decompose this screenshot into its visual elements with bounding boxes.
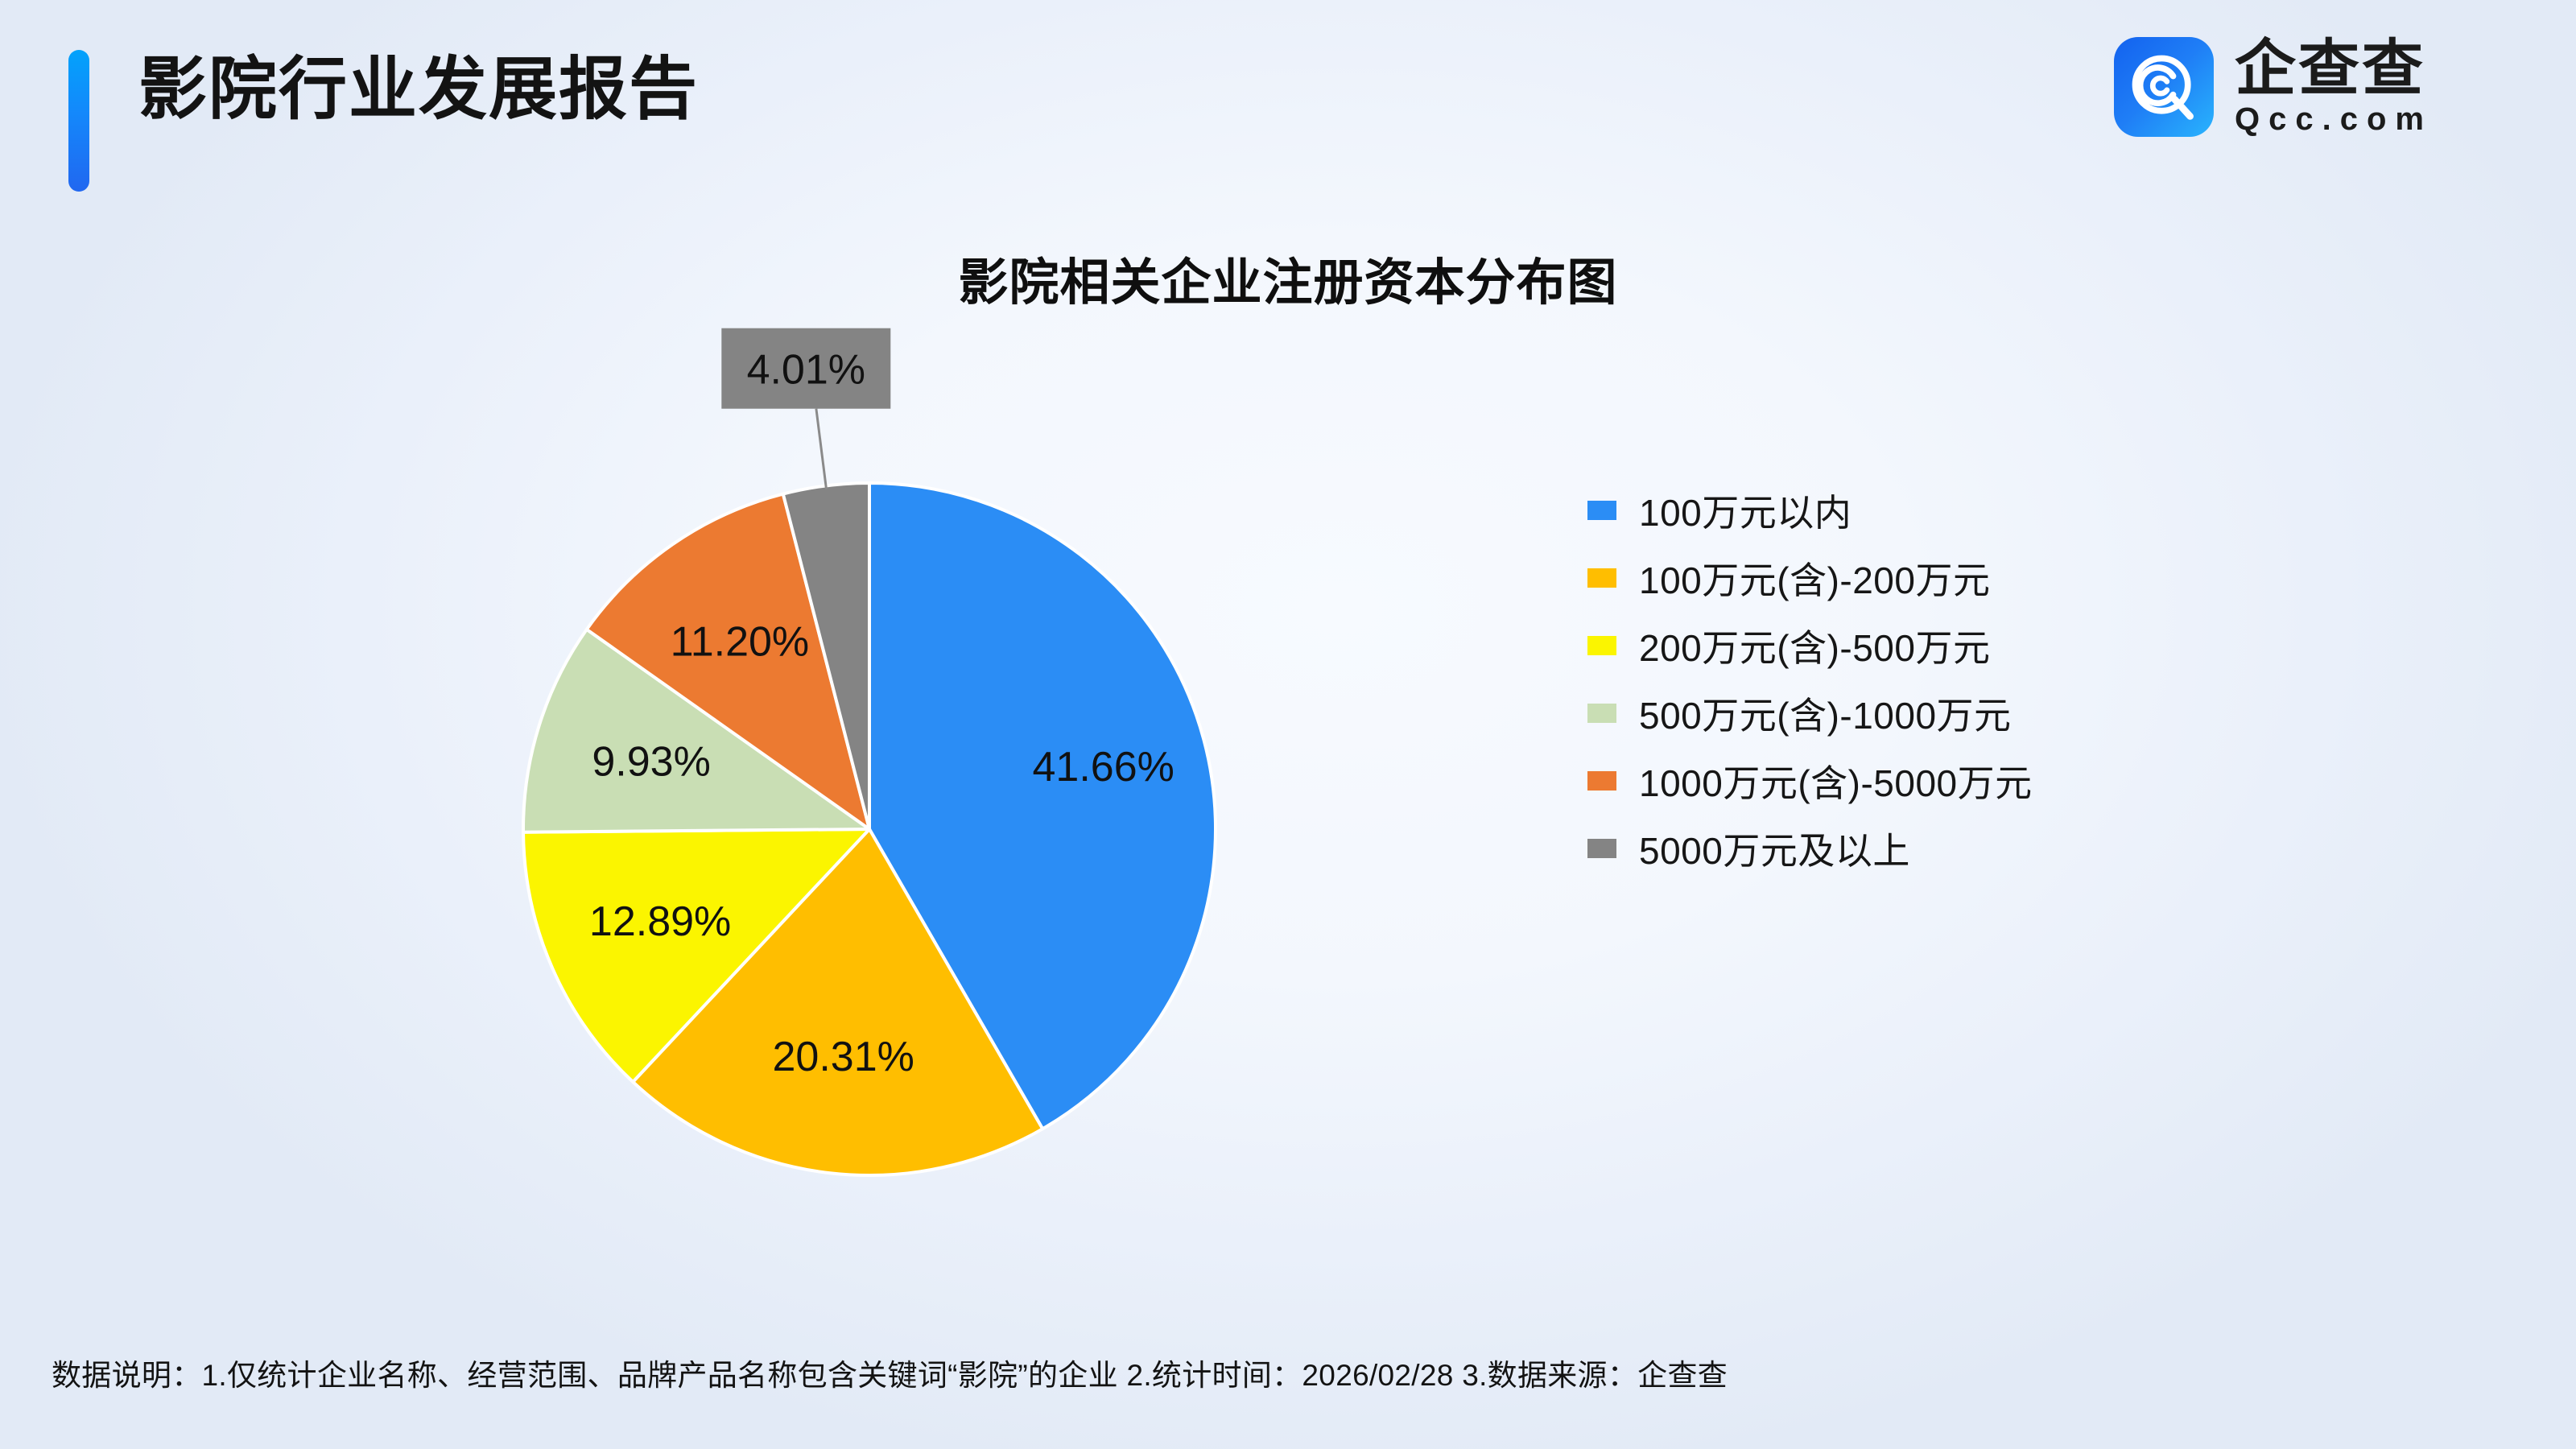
legend-item-label: 100万元以内 bbox=[1639, 484, 1851, 537]
legend-item-label: 1000万元(含)-5000万元 bbox=[1639, 754, 2033, 807]
callout-label: 4.01% bbox=[747, 347, 865, 394]
pie-slice-label: 41.66% bbox=[1033, 744, 1174, 791]
legend-item[interactable]: 500万元(含)-1000万元 bbox=[1587, 679, 2312, 747]
legend-item[interactable]: 1000万元(含)-5000万元 bbox=[1587, 747, 2312, 815]
legend-item-label: 500万元(含)-1000万元 bbox=[1639, 687, 2012, 740]
legend-item-label: 5000万元及以上 bbox=[1639, 822, 1910, 875]
qcc-logo-icon bbox=[2114, 37, 2214, 137]
brand-domain: Qcc.com bbox=[2235, 103, 2433, 135]
brand-logo: 企查查 Qcc.com bbox=[2114, 37, 2433, 137]
legend-swatch bbox=[1587, 568, 1616, 588]
title-accent-bar bbox=[68, 50, 89, 192]
legend-item[interactable]: 200万元(含)-500万元 bbox=[1587, 612, 2312, 679]
legend-item[interactable]: 100万元以内 bbox=[1587, 477, 2312, 544]
legend-item-label: 100万元(含)-200万元 bbox=[1639, 551, 1990, 605]
callout-leader-line bbox=[816, 409, 827, 489]
chart-title: 影院相关企业注册资本分布图 bbox=[0, 242, 2576, 314]
pie-callout-group: 4.01% bbox=[721, 328, 890, 489]
legend-item-label: 200万元(含)-500万元 bbox=[1639, 619, 1990, 672]
pie-slice-label: 12.89% bbox=[589, 898, 731, 945]
legend-item[interactable]: 100万元(含)-200万元 bbox=[1587, 544, 2312, 612]
legend-swatch bbox=[1587, 704, 1616, 723]
page-header: 影院行业发展报告 企查查 Qcc.com bbox=[0, 0, 2576, 217]
brand-name: 企查查 bbox=[2235, 39, 2433, 100]
brand-wordmark: 企查查 Qcc.com bbox=[2235, 39, 2433, 135]
legend-swatch bbox=[1587, 501, 1616, 520]
legend-swatch bbox=[1587, 771, 1616, 791]
legend-swatch bbox=[1587, 636, 1616, 655]
chart-legend: 100万元以内100万元(含)-200万元200万元(含)-500万元500万元… bbox=[1587, 477, 2312, 882]
legend-item[interactable]: 5000万元及以上 bbox=[1587, 815, 2312, 882]
legend-swatch bbox=[1587, 839, 1616, 858]
page-title: 影院行业发展报告 bbox=[138, 42, 699, 138]
pie-chart: 41.66%20.31%12.89%9.93%11.20% 4.01% bbox=[451, 338, 1352, 1264]
report-page: 影院行业发展报告 企查查 Qcc.com 影院相关企业注册资本分布图 41.66… bbox=[0, 0, 2576, 1449]
pie-slice-label: 11.20% bbox=[671, 618, 810, 665]
pie-slice-label: 9.93% bbox=[592, 738, 710, 785]
footer-note: 数据说明：1.仅统计企业名称、经营范围、品牌产品名称包含关键词“影院”的企业 2… bbox=[52, 1351, 1728, 1394]
pie-slice-label: 20.31% bbox=[773, 1034, 914, 1080]
pie-chart-svg: 41.66%20.31%12.89%9.93%11.20% 4.01% bbox=[451, 338, 1352, 1264]
